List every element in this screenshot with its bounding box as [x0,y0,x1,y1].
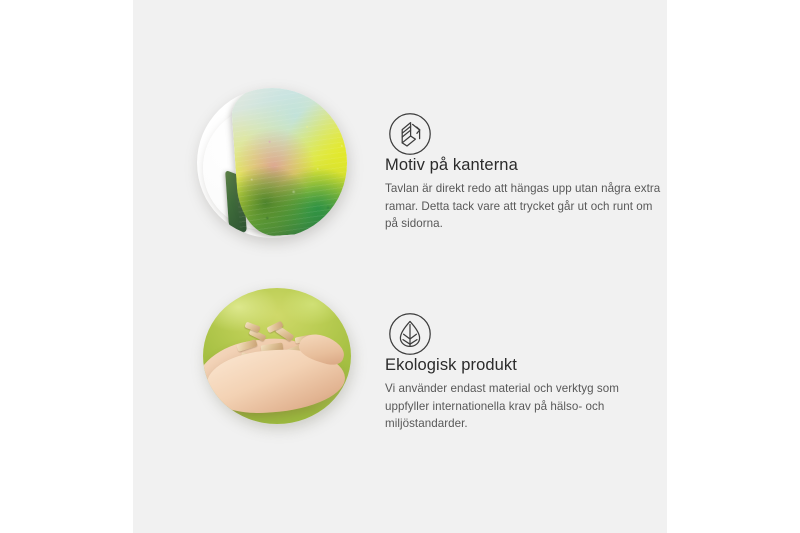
canvas-corner-photo [197,88,347,238]
wood-chips-in-hands-photo [203,288,351,424]
leaf-icon [388,312,432,356]
feature-title: Ekologisk produkt [385,356,675,376]
canvas-edge-print-icon [388,112,432,156]
printed-canvas-corner [230,88,347,238]
product-feature-banner: Motiv på kanterna Tavlan är direkt redo … [0,0,800,533]
feature-description: Vi använder endast material och verktyg … [385,380,663,433]
content-panel: Motiv på kanterna Tavlan är direkt redo … [133,0,667,533]
paint-texture-overlay [230,88,347,238]
feature-description: Tavlan är direkt redo att hängas upp uta… [385,180,663,233]
feature-title: Motiv på kanterna [385,156,675,176]
